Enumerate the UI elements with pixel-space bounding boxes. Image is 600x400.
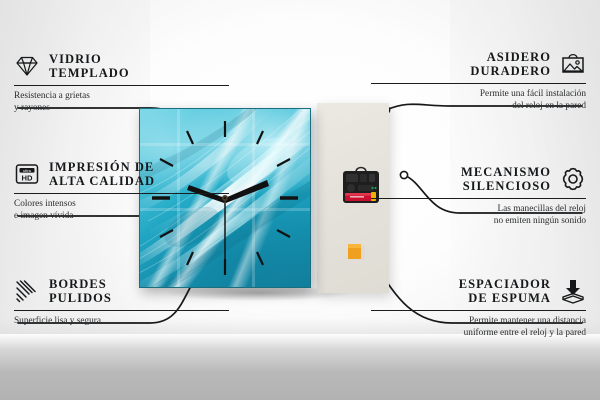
- feature-bordes-pulidos: BORDES PULIDOS Superficie lisa y segura: [14, 277, 229, 327]
- feature-rule: [371, 83, 586, 84]
- feature-title-line1: MECANISMO: [461, 165, 551, 179]
- feature-title-line2: ALTA CALIDAD: [49, 174, 155, 188]
- feature-title-line1: ESPACIADOR: [459, 277, 551, 291]
- ultra-hd-icon-large-text: HD: [22, 174, 33, 183]
- feature-rule: [371, 310, 586, 311]
- wall-hanger-frame-icon: [560, 51, 586, 77]
- ultra-hd-icon-small-text: ultra: [23, 168, 32, 173]
- infographic-canvas: VIDRIO TEMPLADO Resistencia a grietas y …: [0, 0, 600, 400]
- feature-desc-line2: del reloj en la pared: [371, 100, 586, 112]
- feature-rule: [14, 193, 229, 194]
- feature-title-line2: SILENCIOSO: [461, 179, 551, 193]
- floor-surface: [0, 334, 600, 400]
- feature-rule: [371, 198, 586, 199]
- gear-icon: [560, 166, 586, 192]
- feature-title-line2: DE ESPUMA: [459, 291, 551, 305]
- feature-title-line1: BORDES: [49, 277, 112, 291]
- feature-asidero-duradero: ASIDERO DURADERO Permite una fácil insta…: [371, 50, 586, 113]
- feature-desc-line1: Permite mantener una distancia: [371, 315, 586, 327]
- foam-spacer-arrow-icon: [560, 278, 586, 304]
- foam-spacer-sample: [347, 243, 367, 263]
- feature-title-line1: ASIDERO: [470, 50, 551, 64]
- diamond-icon: [14, 53, 40, 79]
- feature-title-line1: VIDRIO: [49, 52, 130, 66]
- feature-desc-line2: uniforme entre el reloj y la pared: [371, 327, 586, 339]
- feature-desc-line2: no emiten ningún sonido: [371, 215, 586, 227]
- minute-hand: [225, 180, 269, 203]
- feature-desc-line2: e imagen vívida: [14, 210, 229, 222]
- feature-desc-line1: Colores intensos: [14, 198, 229, 210]
- feature-impresion-alta-calidad: ultra HD IMPRESIÓN DE ALTA CALIDAD Color…: [14, 160, 229, 223]
- feature-title-line2: DURADERO: [470, 64, 551, 78]
- feature-rule: [14, 85, 229, 86]
- feature-desc-line1: Permite una fácil instalación: [371, 88, 586, 100]
- feature-desc-line1: Las manecillas del reloj: [371, 203, 586, 215]
- feature-espaciador-de-espuma: ESPACIADOR DE ESPUMA Permite mantener un…: [371, 277, 586, 340]
- feature-title-line1: IMPRESIÓN DE: [49, 160, 155, 174]
- feature-title-line2: PULIDOS: [49, 291, 112, 305]
- feature-mecanismo-silencioso: MECANISMO SILENCIOSO Las manecillas del …: [371, 165, 586, 228]
- feature-desc-line1: Superficie lisa y segura: [14, 315, 229, 327]
- feature-rule: [14, 310, 229, 311]
- ultra-hd-icon: ultra HD: [14, 161, 40, 187]
- polished-edges-icon: [14, 278, 40, 304]
- feature-title-line2: TEMPLADO: [49, 66, 130, 80]
- feature-desc-line2: y rayones: [14, 102, 229, 114]
- feature-vidrio-templado: VIDRIO TEMPLADO Resistencia a grietas y …: [14, 52, 229, 115]
- feature-desc-line1: Resistencia a grietas: [14, 90, 229, 102]
